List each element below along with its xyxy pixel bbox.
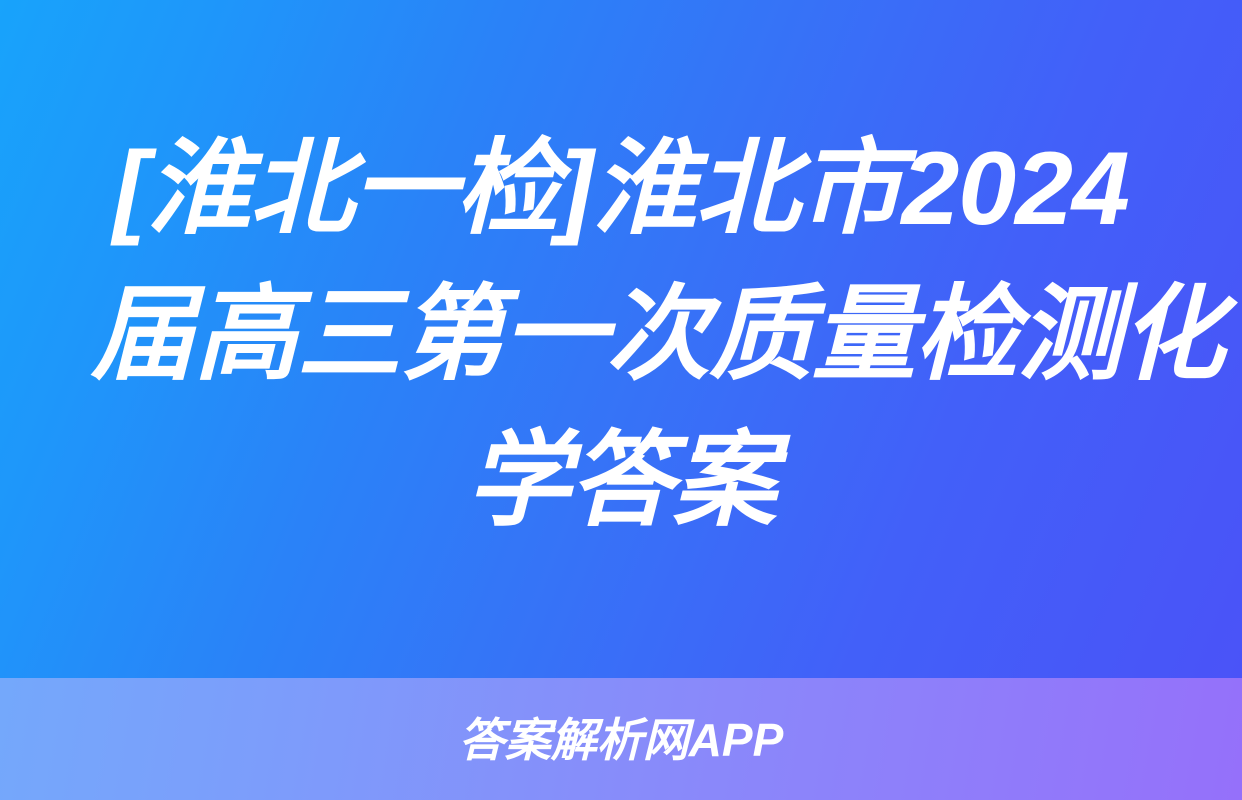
- app-brand-label: 答案解析网APP: [459, 717, 784, 763]
- page-title: [淮北一检]淮北市2024 届高三第一次质量检测化 学答案: [91, 116, 1151, 554]
- page-title-line-3: 学答案: [91, 408, 1151, 554]
- hero-gradient-panel: [淮北一检]淮北市2024 届高三第一次质量检测化 学答案: [0, 0, 1242, 678]
- poster-card: [淮北一检]淮北市2024 届高三第一次质量检测化 学答案 答案解析网APP: [0, 0, 1242, 800]
- page-title-line-2: 届高三第一次质量检测化: [91, 262, 1151, 408]
- footer-brand-band: 答案解析网APP: [0, 678, 1242, 800]
- page-title-line-1: [淮北一检]淮北市2024: [91, 116, 1151, 262]
